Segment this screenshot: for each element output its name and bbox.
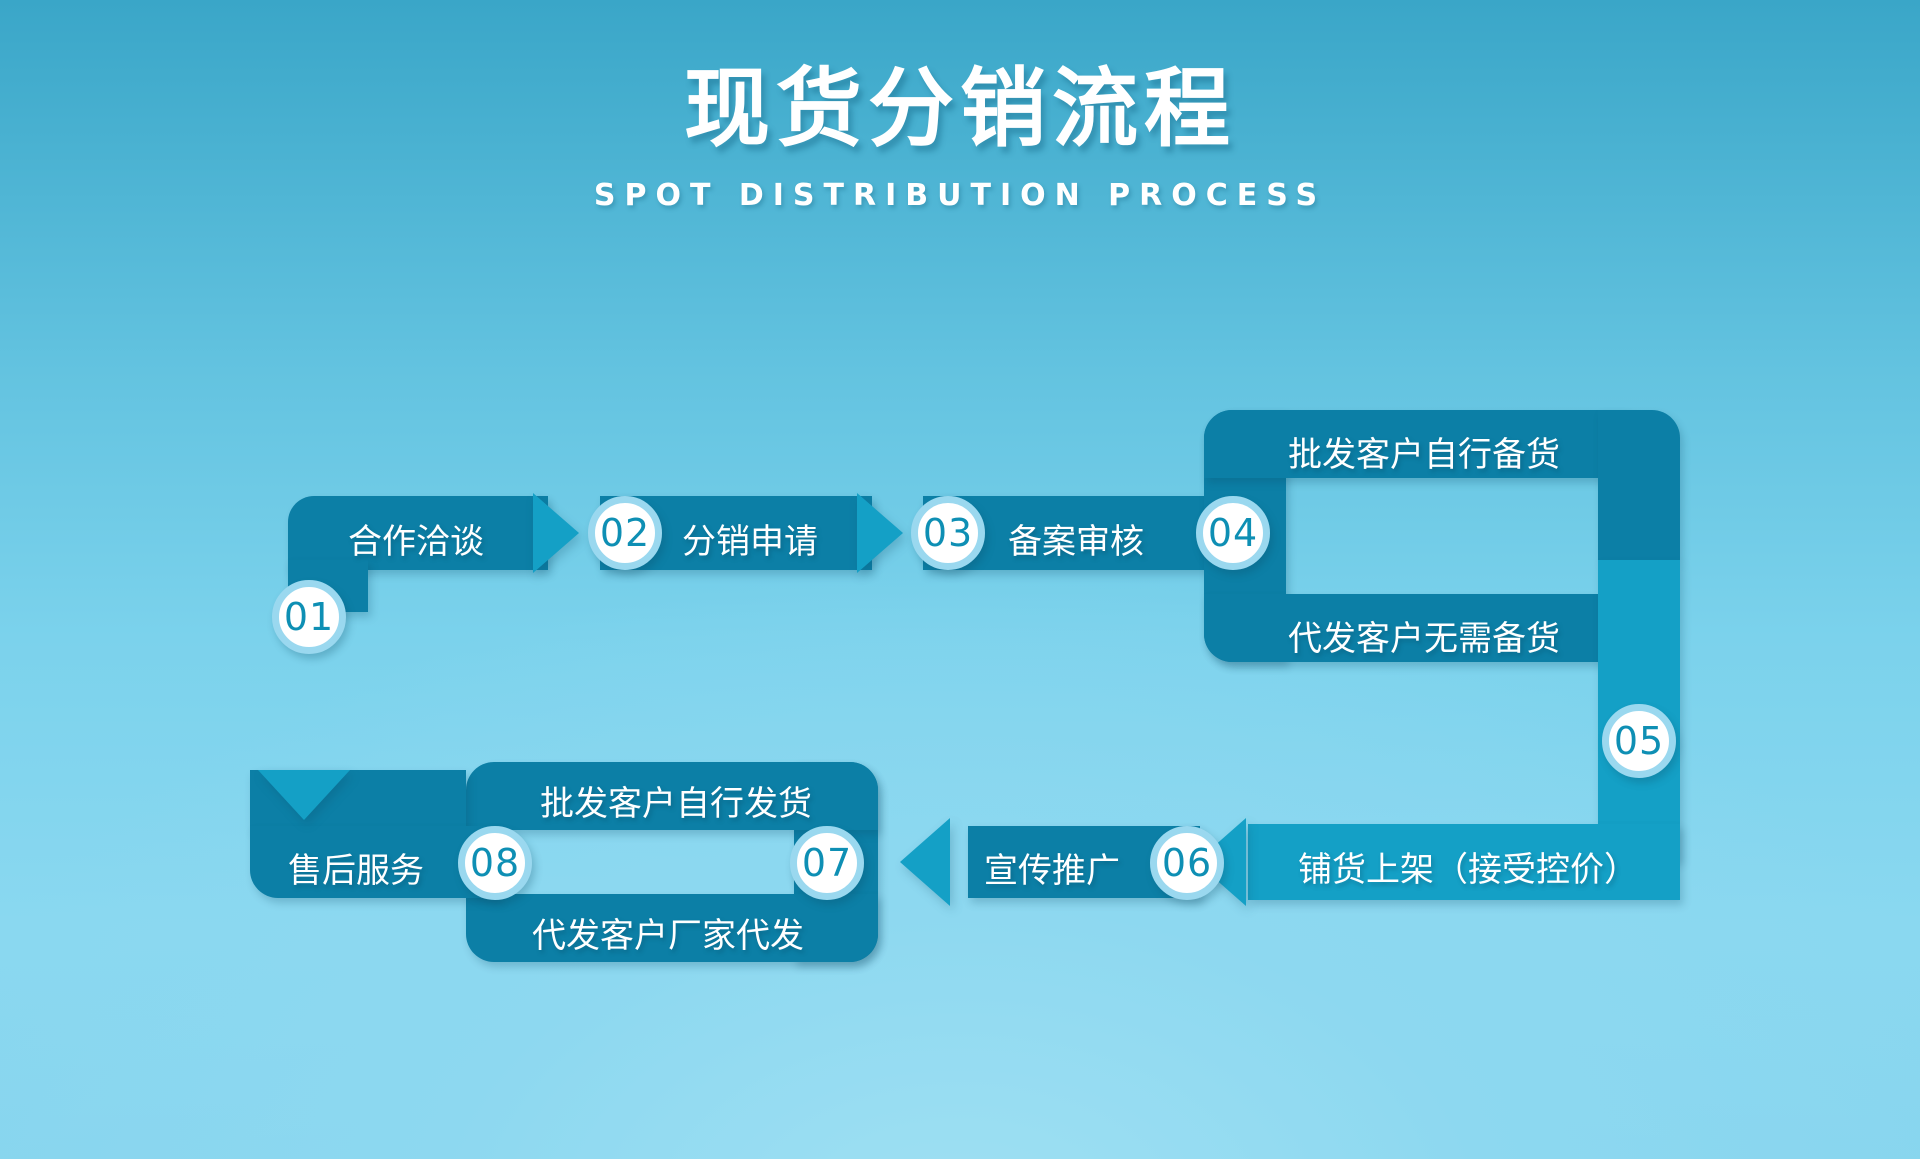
step-number-04[interactable]: 04 [1196,496,1270,570]
infographic-canvas: 现货分销流程 SPOT DISTRIBUTION PROCESS 合作洽谈 01… [0,0,1920,1159]
step-number-02[interactable]: 02 [588,496,662,570]
step-number-01[interactable]: 01 [272,580,346,654]
step-02-label: 分销申请 [682,514,818,563]
step-number-05[interactable]: 05 [1602,704,1676,778]
step-01-label: 合作洽谈 [348,514,484,563]
branch-ship-bottom-label: 代发客户厂家代发 [532,908,804,957]
branch-stock-bottom-label: 代发客户无需备货 [1288,611,1560,660]
step-03-label: 备案审核 [1008,514,1144,563]
page-subtitle: SPOT DISTRIBUTION PROCESS [0,178,1920,213]
arrow-02-to-03-icon [857,493,903,573]
step-number-03[interactable]: 03 [911,496,985,570]
arrow-01-to-02-icon [533,493,579,573]
arrow-loop-end-icon [258,770,350,820]
arrow-06-to-07-icon [900,818,950,906]
step-08-label: 售后服务 [288,843,424,892]
header: 现货分销流程 SPOT DISTRIBUTION PROCESS [0,0,1920,213]
page-title: 现货分销流程 [0,66,1920,152]
step-number-07[interactable]: 07 [790,826,864,900]
branch-stock-top-label: 批发客户自行备货 [1288,427,1560,476]
step-listing-label: 铺货上架（接受控价） [1298,842,1638,891]
step-06-label: 宣传推广 [984,843,1120,892]
step-number-08[interactable]: 08 [458,826,532,900]
branch-ship-top-label: 批发客户自行发货 [540,776,812,825]
connector-right-upper [1598,410,1680,560]
step-number-06[interactable]: 06 [1150,826,1224,900]
